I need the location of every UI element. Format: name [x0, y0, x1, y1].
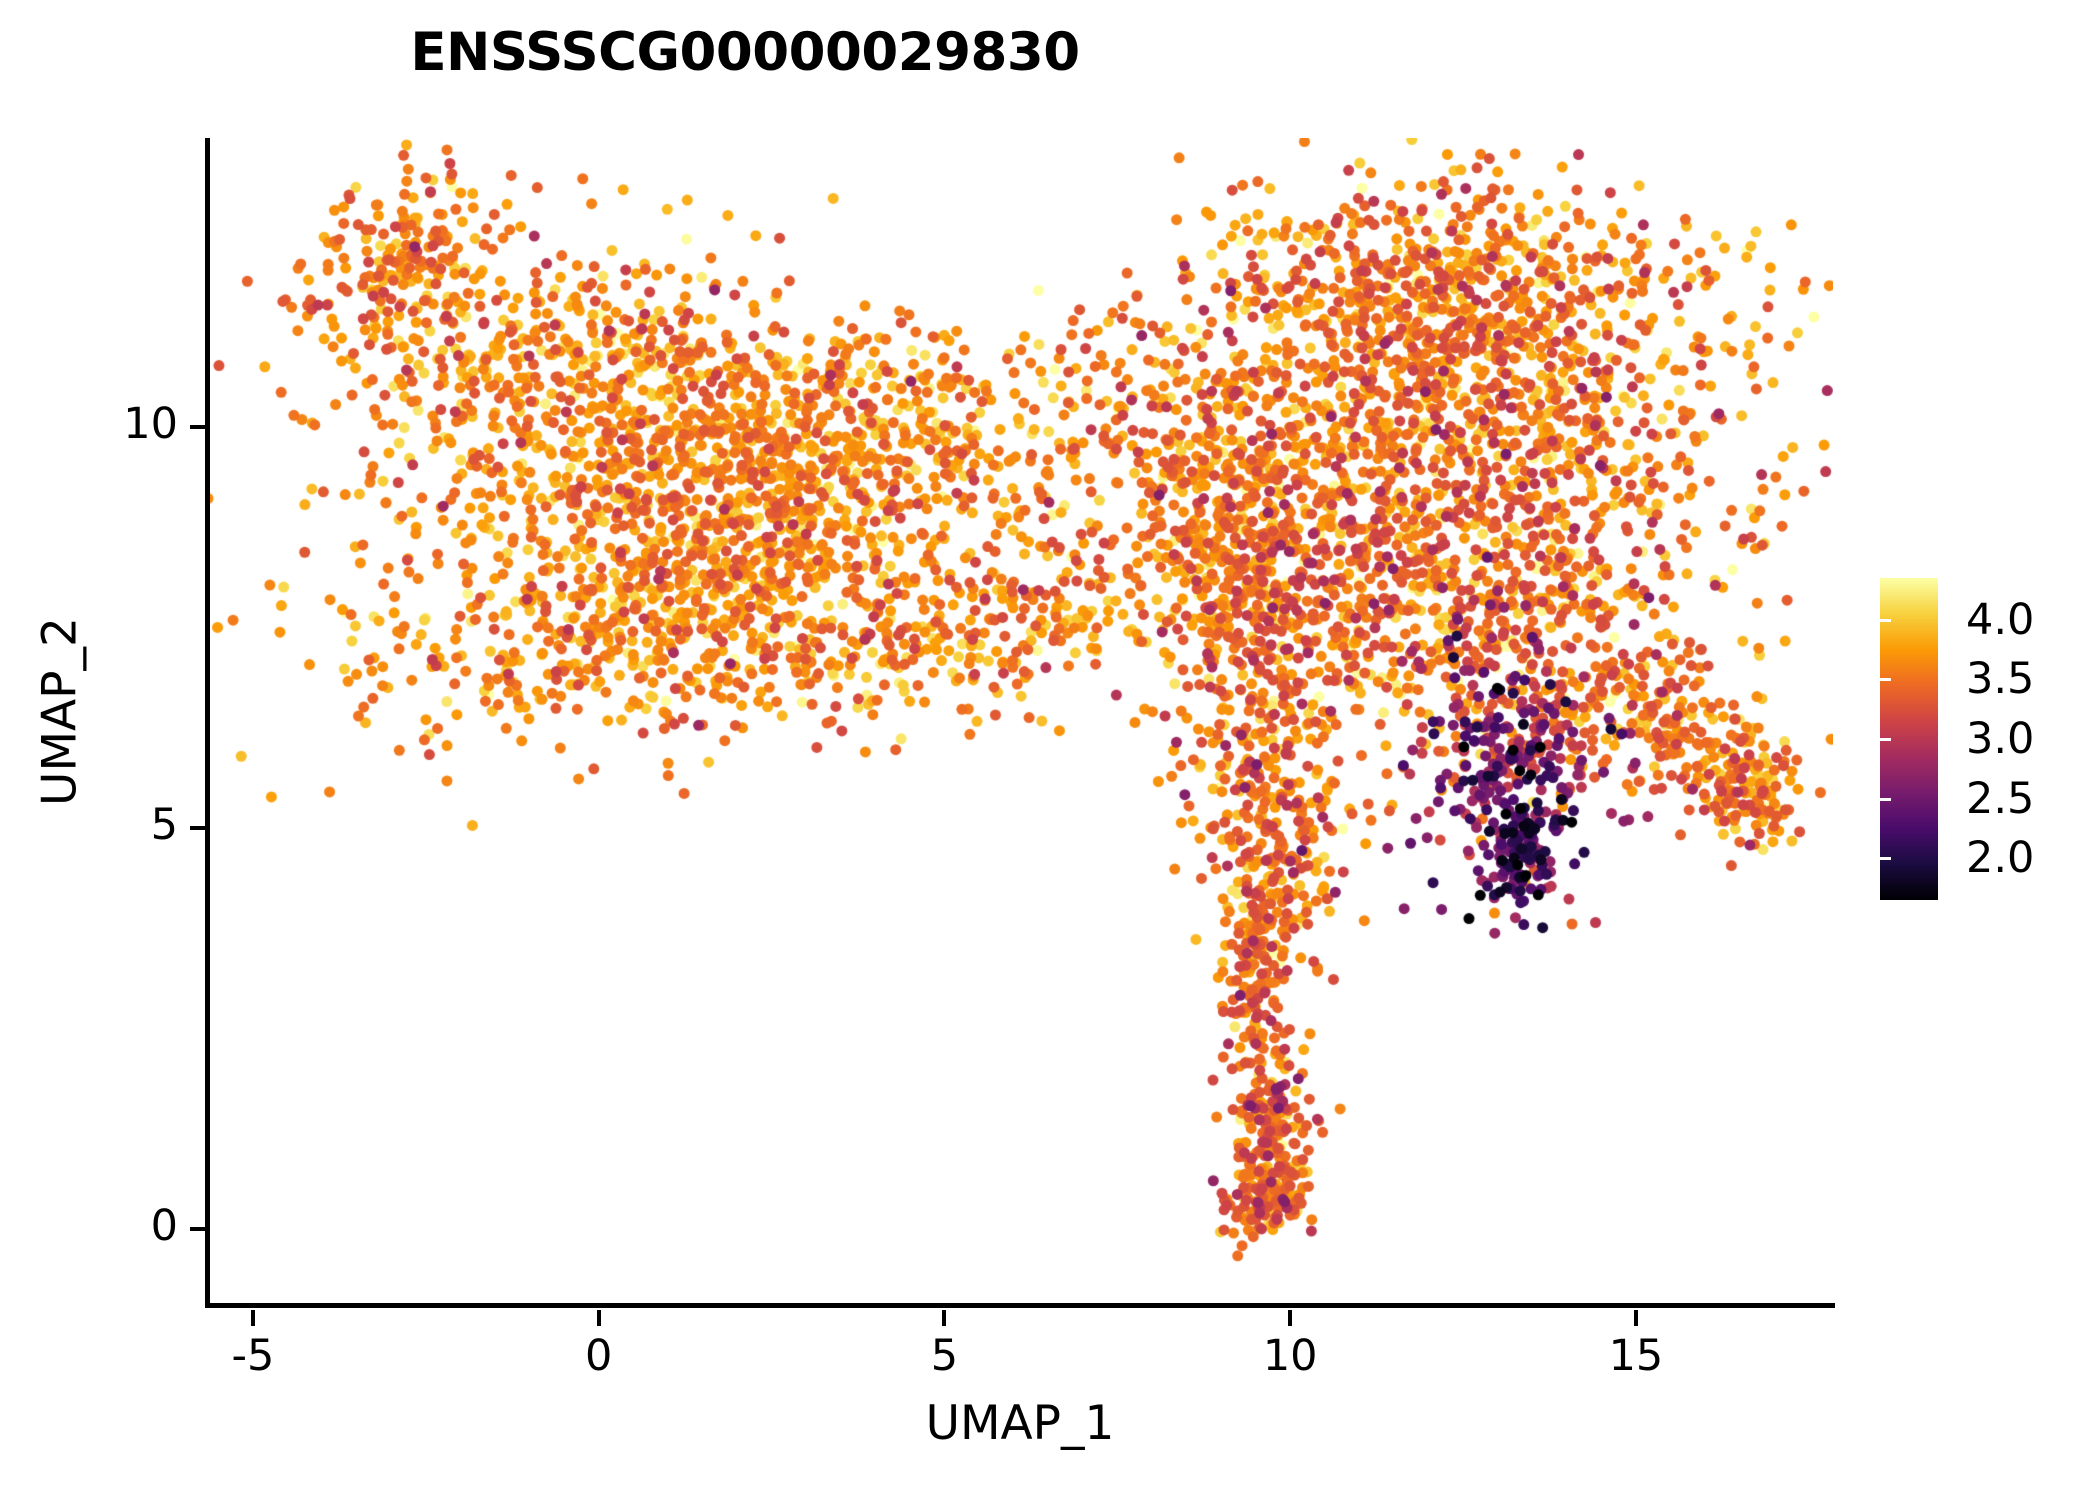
y-tick-mark	[190, 425, 206, 429]
x-tick-label: -5	[153, 1331, 353, 1381]
x-tick-label: 0	[499, 1331, 699, 1381]
colorbar-tick-mark	[2069, 738, 2080, 741]
colorbar-tick-mark	[1880, 857, 1891, 860]
colorbar-tick-mark	[1880, 619, 1891, 622]
x-tick-mark	[1288, 1310, 1292, 1326]
x-tick-mark	[942, 1310, 946, 1326]
colorbar-tick-label: 2.0	[1966, 833, 2034, 883]
colorbar-tick-mark	[2069, 619, 2080, 622]
colorbar-tick-label: 2.5	[1966, 774, 2034, 824]
y-tick-mark	[190, 1227, 206, 1231]
x-tick-mark	[251, 1310, 255, 1326]
colorbar-tick-mark	[2069, 678, 2080, 681]
colorbar-tick-mark	[1880, 798, 1891, 801]
colorbar-tick-label: 3.5	[1966, 654, 2034, 704]
x-tick-mark	[1634, 1310, 1638, 1326]
colorbar-tick-label: 4.0	[1966, 595, 2034, 645]
y-axis-label: UMAP_2	[33, 312, 88, 1112]
colorbar-tick-mark	[1880, 678, 1891, 681]
x-tick-label: 5	[844, 1331, 1044, 1381]
colorbar-tick-mark	[2069, 857, 2080, 860]
colorbar-tick-mark	[1880, 738, 1891, 741]
x-tick-label: 10	[1190, 1331, 1390, 1381]
y-tick-label: 0	[0, 1201, 178, 1251]
colorbar-tick-label: 3.0	[1966, 714, 2034, 764]
y-tick-label: 5	[0, 800, 178, 850]
y-tick-mark	[190, 826, 206, 830]
x-axis-spine	[205, 1303, 1835, 1308]
colorbar-tick-mark	[2069, 798, 2080, 801]
colorbar-legend: 4.03.53.02.52.0	[1880, 578, 2080, 903]
y-tick-label: 10	[0, 399, 178, 449]
scatter-canvas	[208, 138, 1833, 1305]
umap-feature-plot: ENSSSCG00000029830 0510 -5051015 UMAP_1 …	[0, 0, 2100, 1500]
page-title: ENSSSCG00000029830	[0, 22, 1490, 83]
y-axis-spine	[205, 138, 210, 1308]
x-tick-label: 15	[1536, 1331, 1736, 1381]
x-tick-mark	[597, 1310, 601, 1326]
x-axis-label: UMAP_1	[205, 1396, 1835, 1451]
